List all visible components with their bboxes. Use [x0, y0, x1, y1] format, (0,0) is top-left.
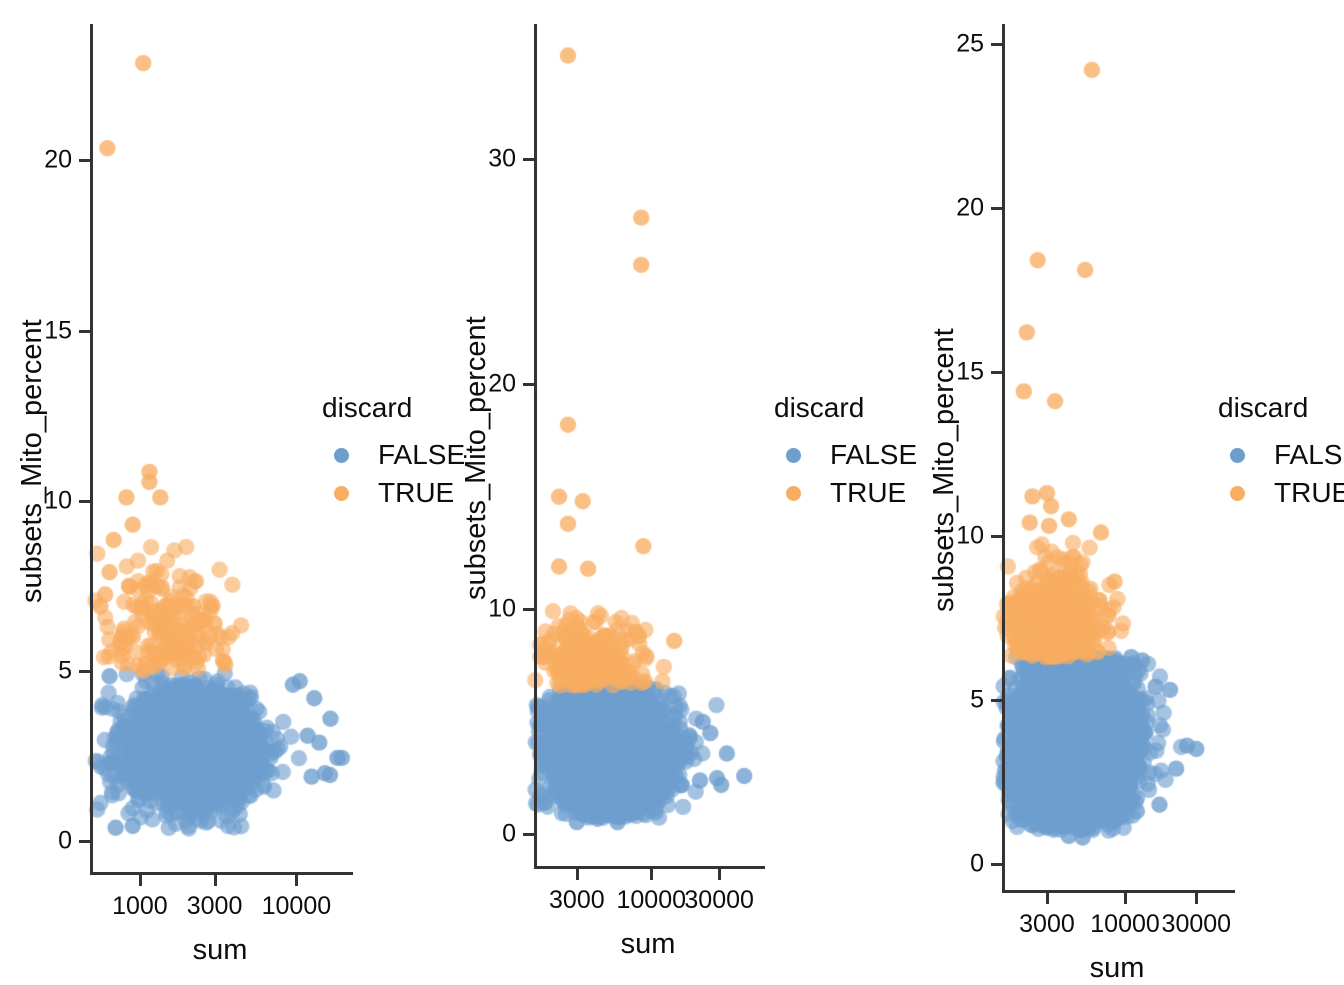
legend-panel-3: discardFALSETRUE: [1218, 392, 1344, 512]
x-tick-label: 10000: [1090, 910, 1160, 939]
y-tick-label: 0: [970, 849, 984, 878]
legend-key: [1218, 448, 1256, 463]
legend-label: TRUE: [1274, 477, 1344, 509]
y-tick-label: 5: [970, 685, 984, 714]
y-tick-mark: [991, 535, 1002, 538]
y-axis-line-panel-3: [1002, 24, 1005, 890]
y-tick-label: 25: [956, 29, 984, 58]
legend-item-false[interactable]: FALSE: [1218, 436, 1344, 474]
x-tick-mark: [1046, 893, 1049, 904]
y-tick-mark: [991, 371, 1002, 374]
figure-root: 051015201000300010000sumsubsets_Mito_per…: [0, 0, 1344, 960]
y-tick-mark: [991, 863, 1002, 866]
x-axis-line-panel-3: [1002, 890, 1235, 893]
chart-panel-3: 051015202530001000030000sumsubsets_Mito_…: [0, 0, 1344, 960]
legend-title: discard: [1218, 392, 1344, 424]
y-axis-title-panel-3: subsets_Mito_percent: [928, 328, 961, 612]
x-tick-mark: [1195, 893, 1198, 904]
legend-dot-true: [1230, 486, 1245, 501]
legend-dot-false: [1230, 448, 1245, 463]
scatter-points-panel-3: [0, 0, 1344, 960]
y-tick-label: 20: [956, 193, 984, 222]
x-tick-label: 3000: [1019, 910, 1075, 939]
legend-label: FALSE: [1274, 439, 1344, 471]
x-tick-label: 30000: [1162, 910, 1232, 939]
y-tick-mark: [991, 43, 1002, 46]
legend-key: [1218, 486, 1256, 501]
legend-item-true[interactable]: TRUE: [1218, 474, 1344, 512]
x-tick-mark: [1124, 893, 1127, 904]
y-tick-mark: [991, 207, 1002, 210]
y-tick-mark: [991, 699, 1002, 702]
x-axis-title-panel-3: sum: [1090, 952, 1145, 985]
